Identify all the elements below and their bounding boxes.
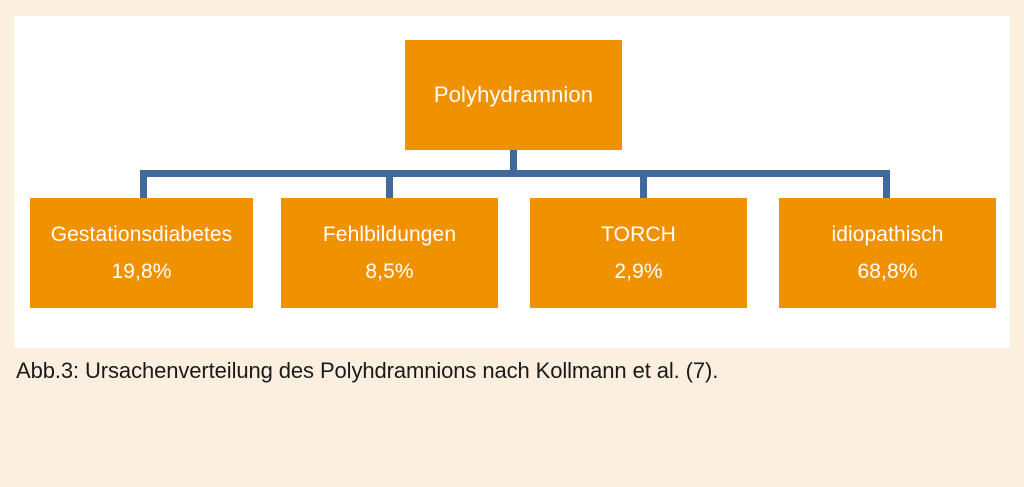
node-polyhydramnion: Polyhydramnion xyxy=(405,40,622,150)
node-value: 68,8% xyxy=(857,258,917,286)
node-gestationsdiabetes: Gestationsdiabetes 19,8% xyxy=(30,198,253,308)
figure-caption: Abb.3: Ursachenverteilung des Polyhdramn… xyxy=(16,358,1008,384)
node-idiopathisch: idiopathisch 68,8% xyxy=(779,198,996,308)
figure-root: Polyhydramnion Gestationsdiabetes 19,8% … xyxy=(0,0,1024,487)
node-fehlbildungen: Fehlbildungen 8,5% xyxy=(281,198,498,308)
node-value: 8,5% xyxy=(365,258,413,286)
node-label: Fehlbildungen xyxy=(323,221,456,249)
node-label: TORCH xyxy=(601,221,676,249)
node-root-label: Polyhydramnion xyxy=(434,80,593,109)
node-label: Gestationsdiabetes xyxy=(51,221,233,249)
node-torch: TORCH 2,9% xyxy=(530,198,747,308)
node-label: idiopathisch xyxy=(831,221,943,249)
node-value: 2,9% xyxy=(614,258,662,286)
diagram-panel: Polyhydramnion Gestationsdiabetes 19,8% … xyxy=(14,16,1010,348)
node-value: 19,8% xyxy=(111,258,171,286)
